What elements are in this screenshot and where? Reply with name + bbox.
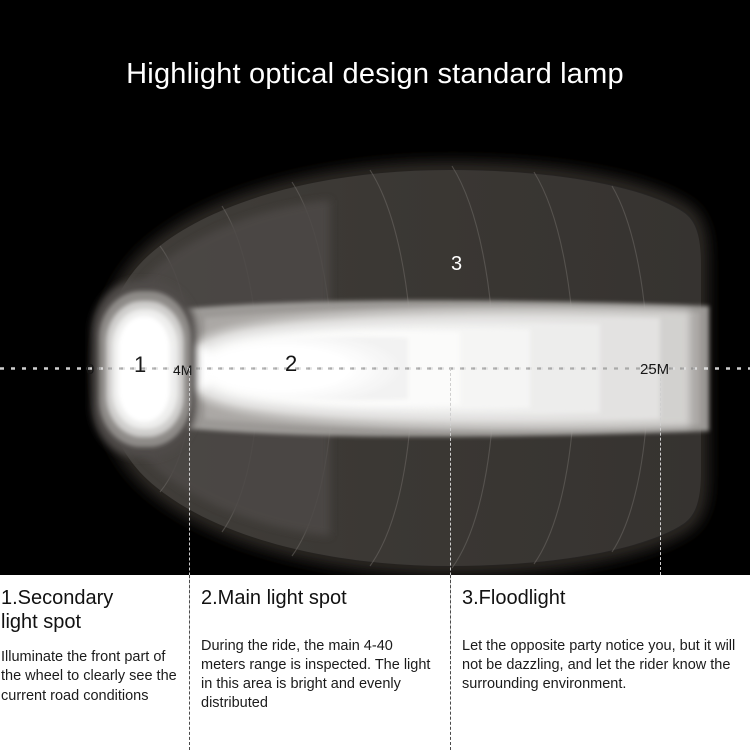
caption-column-floodlight: 3.Floodlight Let the opposite party noti… xyxy=(456,575,748,750)
title-bar: Highlight optical design standard lamp xyxy=(0,0,750,148)
caption-title-2: 2.Main light spot xyxy=(201,587,437,611)
caption-column-secondary-light-spot: 1.Secondary light spot Illuminate the fr… xyxy=(0,575,186,750)
caption-title-3: 3.Floodlight xyxy=(462,587,742,611)
caption-body-1: Illuminate the front part of the wheel t… xyxy=(1,648,180,706)
caption-divider-2 xyxy=(450,575,451,750)
caption-column-main-light-spot: 2.Main light spot During the ride, the m… xyxy=(195,575,443,750)
caption-divider-1 xyxy=(189,575,190,750)
caption-panel: 1.Secondary light spot Illuminate the fr… xyxy=(0,575,750,750)
caption-body-2: During the ride, the main 4-40 meters ra… xyxy=(201,637,437,714)
zone-divider-25m xyxy=(660,368,661,575)
caption-body-3: Let the opposite party notice you, but i… xyxy=(462,637,742,695)
beam-layers xyxy=(0,161,750,575)
caption-title-1: 1.Secondary light spot xyxy=(1,587,180,634)
page-title: Highlight optical design standard lamp xyxy=(126,58,624,91)
beam-pattern-infographic: Highlight optical design standard lamp xyxy=(0,0,750,750)
